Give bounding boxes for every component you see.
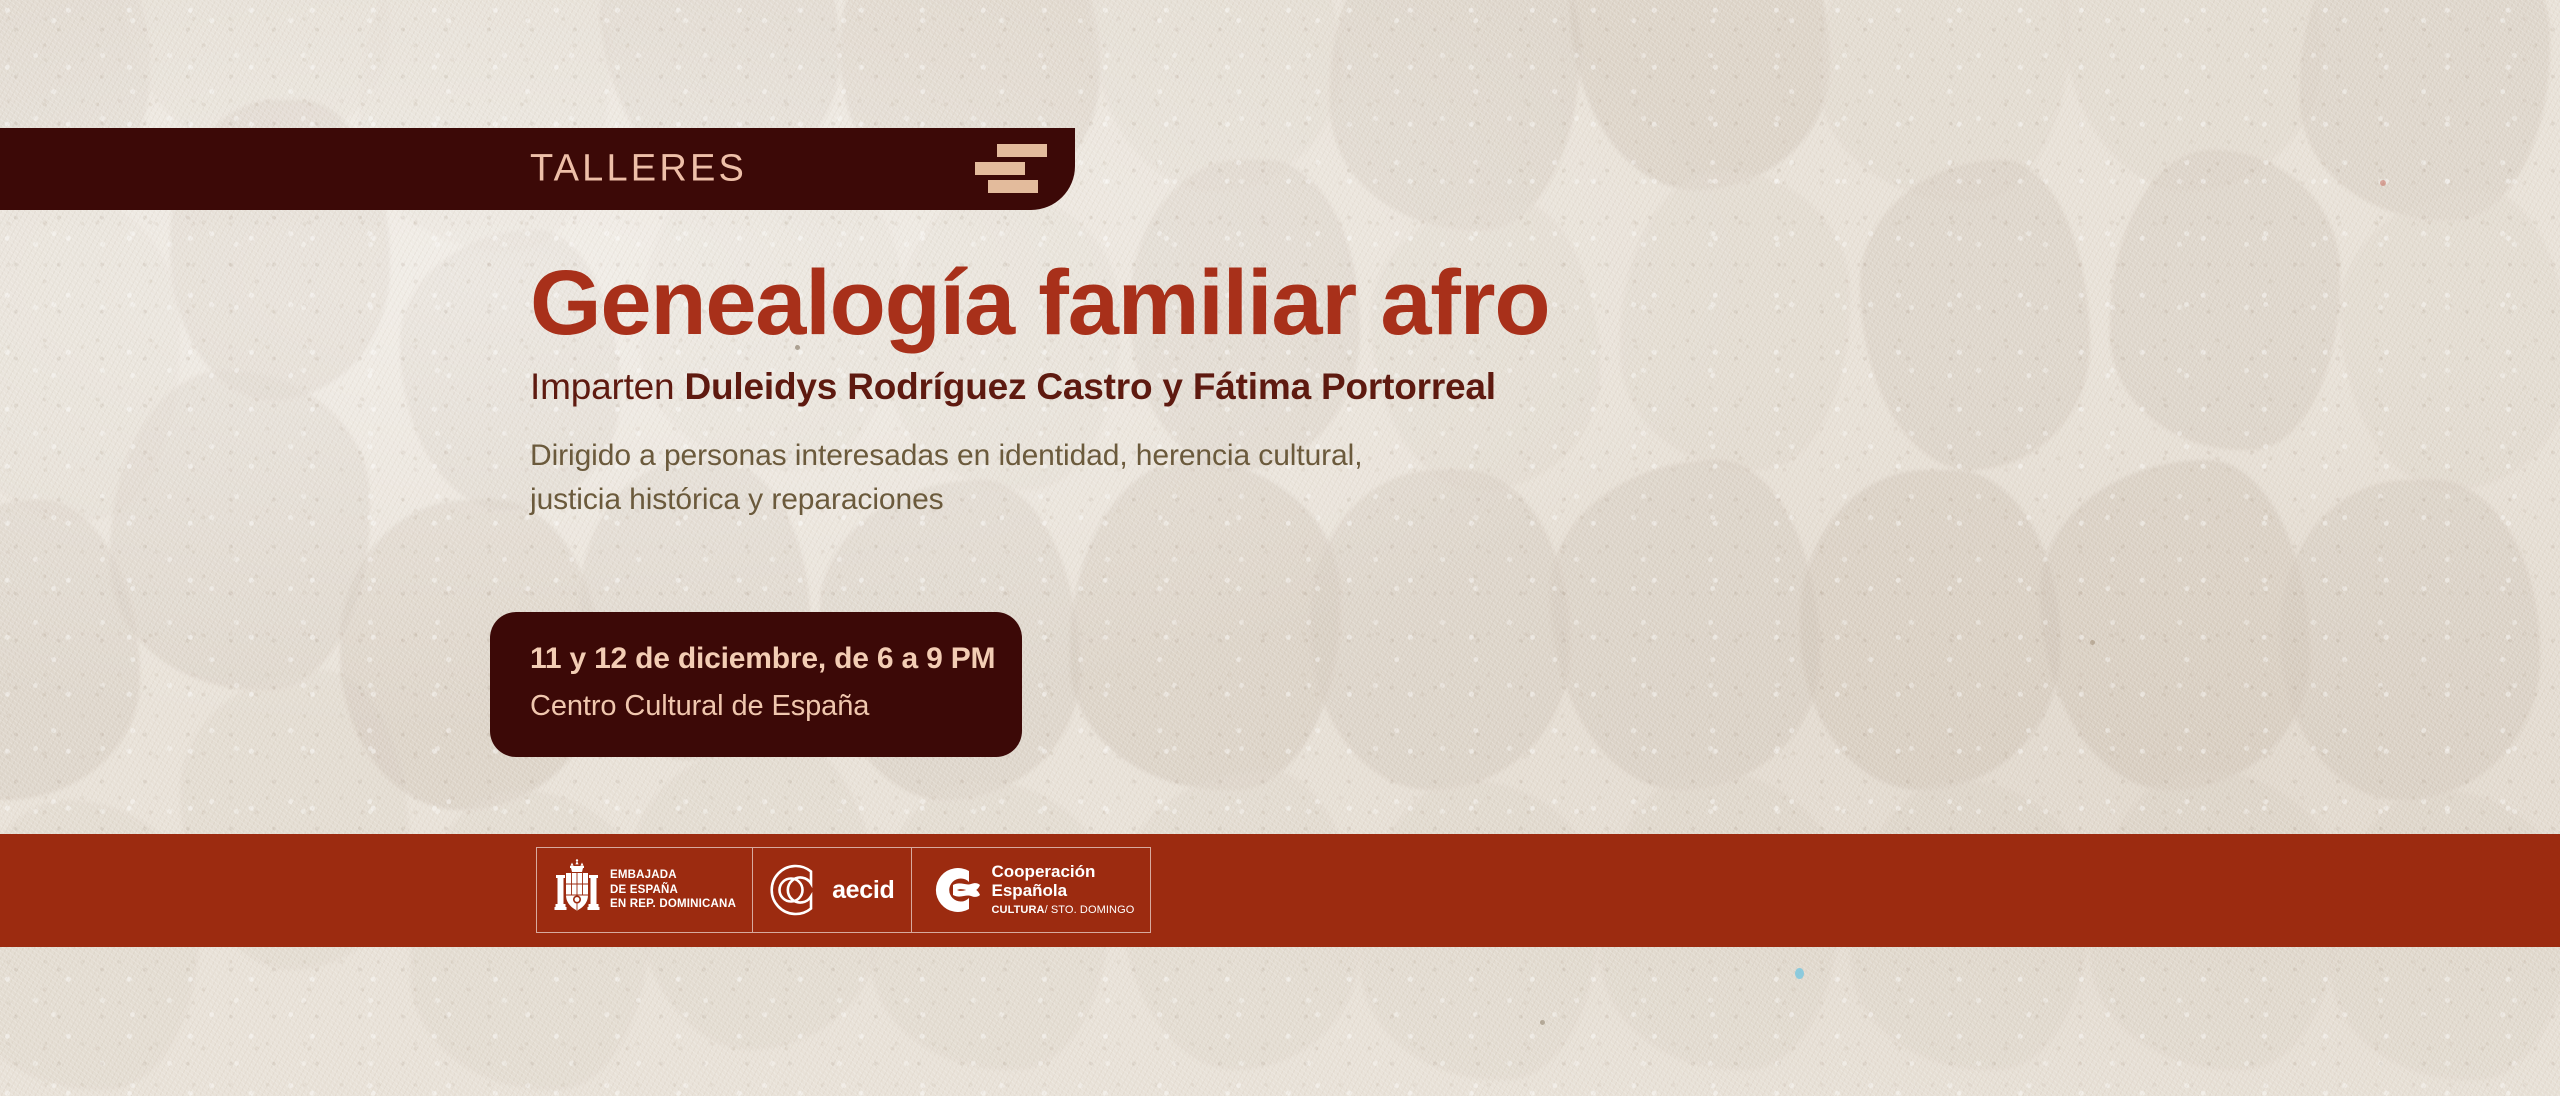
banner-label: TALLERES — [530, 148, 747, 191]
embassy-line-3: EN REP. DOMINICANA — [610, 897, 736, 912]
paper-speck — [2090, 640, 2095, 645]
description-line-1: Dirigido a personas interesadas en ident… — [530, 434, 1930, 478]
byline-names: Duleidys Rodríguez Castro y Fátima Porto… — [685, 366, 1496, 407]
talleres-banner: TALLERES — [0, 128, 1075, 210]
paper-speck — [1540, 1020, 1545, 1025]
description-line-2: justicia histórica y reparaciones — [530, 478, 1930, 522]
instructors-byline: Imparten Duleidys Rodríguez Castro y Fát… — [530, 366, 1930, 408]
cooperacion-line-3: CULTURA/ STO. DOMINGO — [992, 903, 1135, 918]
audience-description: Dirigido a personas interesadas en ident… — [530, 434, 1930, 523]
sponsor-logo-strip: EMBAJADA DE ESPAÑA EN REP. DOMINICANA ae… — [536, 847, 1151, 933]
embassy-logo-block: EMBAJADA DE ESPAÑA EN REP. DOMINICANA — [537, 848, 753, 932]
aecid-c-ring-icon — [769, 863, 823, 917]
cooperacion-city-label: / STO. DOMINGO — [1045, 904, 1135, 916]
sponsor-footer: EMBAJADA DE ESPAÑA EN REP. DOMINICANA ae… — [0, 834, 2560, 947]
schedule-card: 11 y 12 de diciembre, de 6 a 9 PM Centro… — [490, 612, 1022, 757]
cooperacion-cultura-label: CULTURA — [992, 904, 1045, 916]
cooperacion-line-2: Española — [992, 881, 1135, 901]
three-bars-icon — [975, 144, 1047, 194]
byline-lead: Imparten — [530, 366, 685, 407]
aecid-logo-block: aecid — [753, 848, 911, 932]
schedule-venue: Centro Cultural de España — [530, 690, 1022, 723]
cooperacion-text: Cooperación Española CULTURA/ STO. DOMIN… — [992, 862, 1135, 919]
cooperacion-line-1: Cooperación — [992, 862, 1135, 882]
cooperacion-espanola-icon — [928, 865, 982, 915]
bar-bottom — [988, 180, 1038, 193]
cooperacion-espanola-logo-block: Cooperación Española CULTURA/ STO. DOMIN… — [912, 848, 1151, 932]
spanish-coat-of-arms-icon — [553, 859, 601, 921]
embassy-line-1: EMBAJADA — [610, 868, 736, 883]
schedule-datetime: 11 y 12 de diciembre, de 6 a 9 PM — [530, 642, 1022, 676]
embassy-text: EMBAJADA DE ESPAÑA EN REP. DOMINICANA — [610, 868, 736, 912]
poster-content: Genealogía familiar afro Imparten Duleid… — [530, 255, 1930, 522]
bar-top — [997, 144, 1047, 157]
aecid-wordmark: aecid — [832, 876, 894, 905]
bar-middle — [975, 162, 1025, 175]
paper-speck — [2380, 180, 2386, 186]
embassy-line-2: DE ESPAÑA — [610, 883, 736, 898]
paper-speck — [1795, 968, 1804, 979]
page-title: Genealogía familiar afro — [530, 255, 1930, 352]
